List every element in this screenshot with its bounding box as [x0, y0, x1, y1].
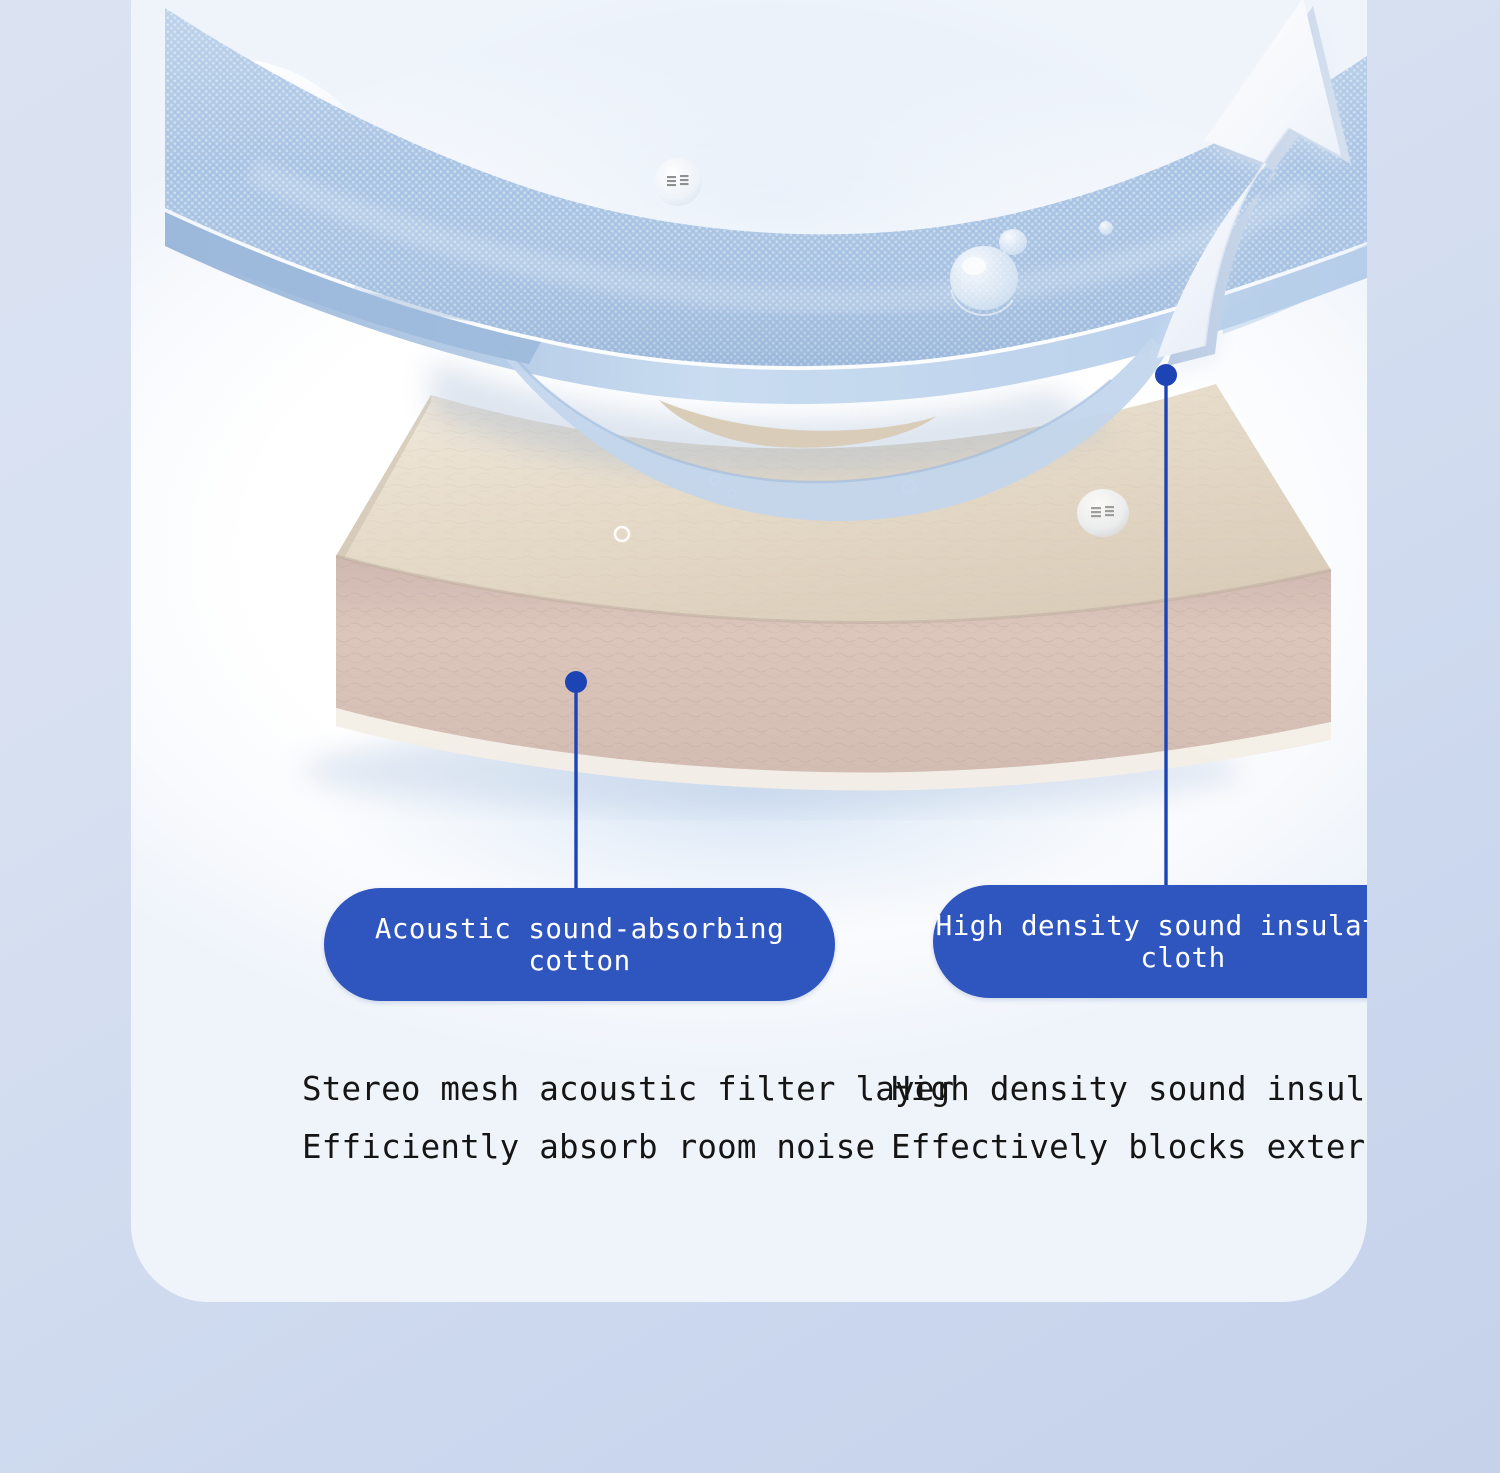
- caption-right-line2: Effectively blocks external noise: [891, 1118, 1367, 1176]
- caption-left-line1: Stereo mesh acoustic filter layer: [302, 1060, 954, 1118]
- caption-right-line1: High density sound insulation layer: [891, 1060, 1367, 1118]
- brand-watermark-foam: [1077, 489, 1129, 537]
- caption-acoustic-filter: Stereo mesh acoustic filter layer Effici…: [302, 1060, 954, 1176]
- callout-dot-cotton: [565, 671, 587, 693]
- caption-left-line2: Efficiently absorb room noise: [302, 1118, 954, 1176]
- water-droplet-small: [1099, 221, 1113, 235]
- product-card: Acoustic sound-absorbing cotton High den…: [131, 0, 1367, 1302]
- callout-dot-cloth: [1155, 364, 1177, 386]
- caption-insulation-layer: High density sound insulation layer Effe…: [891, 1060, 1367, 1176]
- brand-watermark-top: [654, 158, 702, 206]
- product-infographic-page: Acoustic sound-absorbing cotton High den…: [0, 0, 1500, 1473]
- label-pill-acoustic-cotton[interactable]: Acoustic sound-absorbing cotton: [324, 888, 835, 1001]
- label-pill-insulation-cloth[interactable]: High density sound insulation cloth: [933, 885, 1367, 998]
